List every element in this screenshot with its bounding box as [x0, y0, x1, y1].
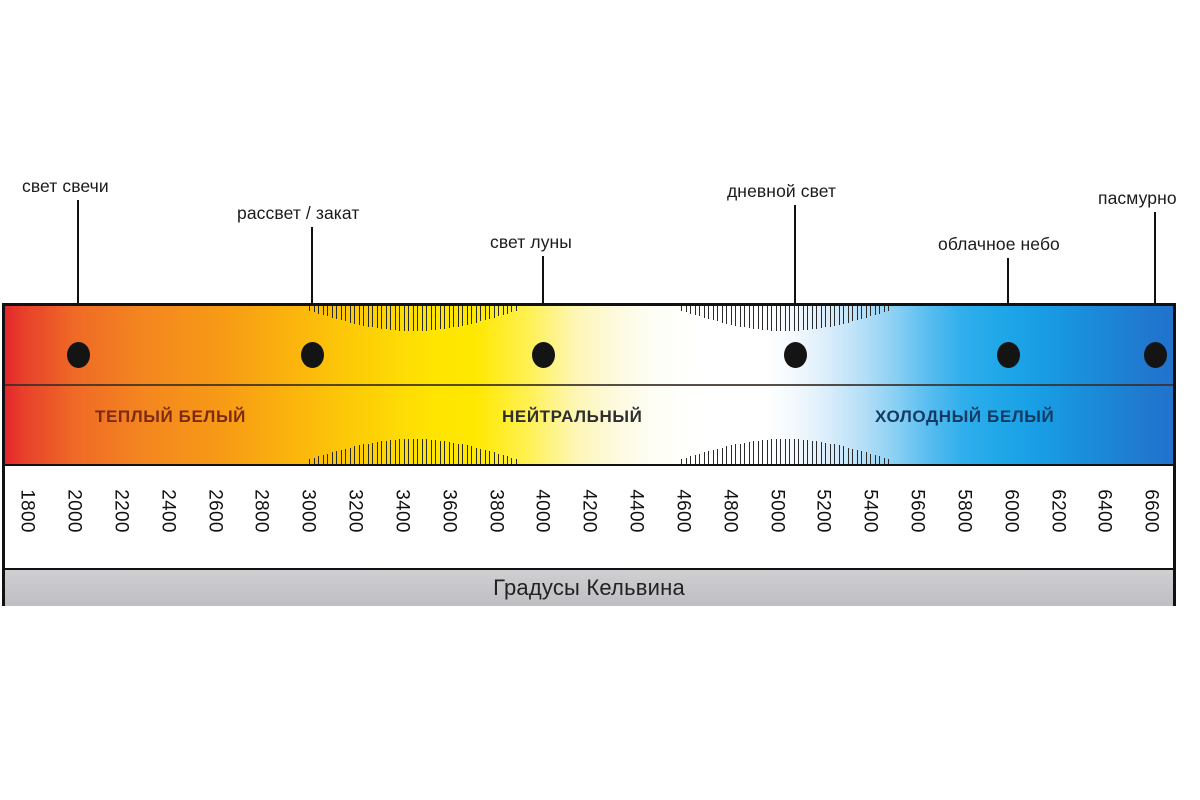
ruler-tick [704, 306, 705, 318]
ruler-tick [798, 439, 799, 464]
ruler-tick [449, 442, 450, 464]
ruler-tick [372, 306, 373, 327]
ruler-tick [753, 441, 754, 464]
ruler-tick [798, 306, 799, 331]
ruler-tick [507, 306, 508, 314]
ruler-tick [762, 306, 763, 330]
ruler-tick [861, 306, 862, 319]
callout-label: облачное небо [938, 236, 1060, 254]
ruler-tick [462, 306, 463, 326]
ruler-tick [498, 454, 499, 464]
kelvin-tick-value: 4400 [625, 489, 647, 532]
ruler-tick [699, 454, 700, 464]
ruler-tick [839, 306, 840, 325]
ruler-tick [489, 306, 490, 319]
color-temperature-chart: ТЕПЛЫЙ БЕЛЫЙ НЕЙТРАЛЬНЫЙ ХОЛОДНЫЙ БЕЛЫЙ … [2, 303, 1176, 606]
ruler-tick [879, 456, 880, 464]
kelvin-tick-value: 4600 [672, 489, 694, 532]
ruler-tick [503, 455, 504, 464]
ruler-tick [467, 306, 468, 325]
kelvin-tick-value: 4800 [719, 489, 741, 532]
callout-layer: свет свечирассвет / закатсвет луныдневно… [0, 0, 1200, 305]
ruler-tick [408, 439, 409, 464]
kelvin-tick-value: 2400 [157, 489, 179, 532]
ruler-tick [753, 306, 754, 329]
kelvin-scale: 1800200022002400260028003000320034003600… [5, 464, 1173, 568]
ruler-tick [359, 445, 360, 464]
kelvin-tick-label: 5200 [812, 472, 834, 564]
ruler-tick [386, 441, 387, 464]
ruler-tick [507, 456, 508, 464]
ruler-tick [807, 440, 808, 464]
ruler-tick [731, 445, 732, 464]
ruler-tick [807, 306, 808, 330]
marker-dot [1144, 342, 1167, 368]
band-label-cool-white: ХОЛОДНЫЙ БЕЛЫЙ [875, 408, 1054, 425]
kelvin-tick-label: 2200 [110, 472, 132, 564]
ruler-tick [789, 439, 790, 464]
kelvin-tick-label: 2600 [203, 472, 225, 564]
spectrum-divider [5, 384, 1173, 386]
ruler-tick [485, 450, 486, 464]
ruler-tick [816, 306, 817, 329]
ruler-tick [771, 439, 772, 464]
ruler-tick [866, 452, 867, 464]
ruler-tick [762, 440, 763, 464]
ruler-tick [404, 439, 405, 464]
kelvin-tick-label: 2400 [157, 472, 179, 564]
ruler-tick [458, 306, 459, 327]
ruler-tick [332, 306, 333, 318]
kelvin-tick-value: 3600 [438, 489, 460, 532]
ruler-tick [377, 306, 378, 328]
ruler-tick [395, 306, 396, 330]
ruler-tick [431, 306, 432, 330]
band-label-neutral: НЕЙТРАЛЬНЫЙ [502, 408, 642, 425]
ruler-tick [435, 306, 436, 330]
ruler-tick [848, 448, 849, 465]
ruler-tick [458, 444, 459, 465]
kelvin-tick-label: 6000 [1000, 472, 1022, 564]
ruler-tick [363, 444, 364, 464]
kelvin-tick-value: 5800 [953, 489, 975, 532]
ruler-tick [462, 444, 463, 464]
ruler-tick [830, 444, 831, 465]
ruler-tick [789, 306, 790, 331]
kelvin-tick-value: 2200 [110, 489, 132, 532]
ruler-tick [498, 306, 499, 316]
ruler-tick [399, 439, 400, 464]
ruler-tick [875, 306, 876, 315]
kelvin-tick-label: 2000 [63, 472, 85, 564]
kelvin-tick-value: 5200 [812, 489, 834, 532]
ruler-tick [740, 306, 741, 327]
ruler-tick [834, 306, 835, 326]
ruler-tick [480, 449, 481, 464]
kelvin-tick-value: 6200 [1046, 489, 1068, 532]
ruler-tick [735, 444, 736, 464]
kelvin-tick-value: 3200 [344, 489, 366, 532]
ruler-tick [825, 443, 826, 464]
ruler-tick [726, 306, 727, 324]
callout-label: рассвет / закат [237, 205, 359, 223]
ruler-tick [489, 451, 490, 464]
ruler-tick [875, 455, 876, 464]
ruler-tick [336, 451, 337, 464]
ruler-tick [870, 306, 871, 316]
kelvin-tick-value: 4200 [578, 489, 600, 532]
ruler-tick [848, 306, 849, 323]
ruler-tick [476, 306, 477, 323]
ruler-tick [780, 306, 781, 331]
ruler-tick [749, 442, 750, 464]
ruler-tick [825, 306, 826, 327]
kelvin-tick-value: 5600 [906, 489, 928, 532]
ruler-tick [870, 454, 871, 464]
ruler-tick [690, 456, 691, 464]
ruler-tick [480, 306, 481, 321]
ruler-tick [386, 306, 387, 329]
marker-dot [532, 342, 555, 368]
ruler-tick [453, 443, 454, 464]
ruler-tick [803, 306, 804, 330]
ruler-tick [368, 444, 369, 465]
ruler-tick [314, 306, 315, 312]
ruler-tick [494, 452, 495, 464]
ruler-tick [857, 450, 858, 464]
kelvin-tick-value: 2600 [203, 489, 225, 532]
kelvin-tick-label: 3200 [344, 472, 366, 564]
marker-dot [784, 342, 807, 368]
ruler-tick [771, 306, 772, 331]
kelvin-tick-label: 5600 [906, 472, 928, 564]
ruler-tick [345, 449, 346, 464]
ruler-tick [803, 440, 804, 464]
ruler-tick [785, 306, 786, 331]
ruler-tick [476, 448, 477, 465]
ruler-tick [503, 306, 504, 315]
ruler-tick [816, 441, 817, 464]
ruler-tick [395, 440, 396, 464]
ruler-tick [372, 443, 373, 464]
ruler-tick [426, 439, 427, 464]
ruler-tick [821, 442, 822, 464]
ruler-tick [426, 306, 427, 331]
ruler-tick [708, 451, 709, 464]
ruler-tick [852, 449, 853, 464]
kelvin-tick-label: 6200 [1046, 472, 1068, 564]
kelvin-caption-text: Градусы Кельвина [493, 575, 685, 601]
ruler-tick [318, 456, 319, 464]
ruler-tick [363, 306, 364, 326]
kelvin-tick-value: 2000 [63, 489, 85, 532]
ruler-tick [413, 306, 414, 331]
ruler-tick [511, 306, 512, 312]
ruler-tick [812, 306, 813, 329]
spectrum-gradient-band: ТЕПЛЫЙ БЕЛЫЙ НЕЙТРАЛЬНЫЙ ХОЛОДНЫЙ БЕЛЫЙ [5, 306, 1173, 464]
ruler-tick [776, 439, 777, 464]
ruler-tick [744, 443, 745, 464]
ruler-tick [681, 306, 682, 311]
ruler-tick [839, 445, 840, 464]
kelvin-tick-label: 3400 [391, 472, 413, 564]
ruler-tick [812, 441, 813, 464]
ruler-tick [713, 450, 714, 464]
ruler-tick [399, 306, 400, 331]
ruler-tick [834, 444, 835, 464]
ruler-tick [413, 439, 414, 464]
ruler-tick [704, 452, 705, 464]
ruler-tick [327, 306, 328, 316]
ruler-tick [323, 306, 324, 315]
ruler-tick [417, 439, 418, 464]
ruler-tick [327, 454, 328, 464]
ruler-tick [368, 306, 369, 327]
kelvin-tick-label: 4800 [719, 472, 741, 564]
kelvin-tick-label: 3000 [297, 472, 319, 564]
kelvin-tick-value: 6600 [1140, 489, 1162, 532]
ruler-tick [852, 306, 853, 321]
kelvin-tick-label: 3600 [438, 472, 460, 564]
kelvin-tick-value: 5400 [859, 489, 881, 532]
ruler-tick [731, 306, 732, 325]
ruler-tick [726, 446, 727, 464]
kelvin-tick-value: 2800 [250, 489, 272, 532]
kelvin-tick-label: 4600 [672, 472, 694, 564]
ruler-tick [758, 441, 759, 464]
ruler-tick [377, 442, 378, 464]
kelvin-tick-label: 2800 [250, 472, 272, 564]
kelvin-tick-label: 4000 [531, 472, 553, 564]
kelvin-caption-bar: Градусы Кельвина [5, 568, 1173, 606]
ruler-tick [408, 306, 409, 331]
ruler-tick [722, 448, 723, 465]
ruler-tick [690, 306, 691, 314]
band-label-warm-white: ТЕПЛЫЙ БЕЛЫЙ [95, 408, 246, 425]
ruler-tick [422, 306, 423, 331]
ruler-tick [717, 306, 718, 321]
ruler-tick [390, 440, 391, 464]
ruler-tick [354, 306, 355, 324]
ruler-tick [794, 306, 795, 331]
kelvin-tick-value: 3800 [484, 489, 506, 532]
kelvin-tick-label: 6400 [1093, 472, 1115, 564]
ruler-tick [404, 306, 405, 331]
ruler-tick [776, 306, 777, 331]
ruler-tick [708, 306, 709, 319]
kelvin-tick-value: 6400 [1093, 489, 1115, 532]
ruler-tick [758, 306, 759, 329]
ruler-tick [449, 306, 450, 328]
callout-label: свет луны [490, 234, 572, 252]
kelvin-tick-label: 3800 [484, 472, 506, 564]
ruler-tick [888, 306, 889, 311]
ruler-tick [780, 439, 781, 464]
ruler-tick [740, 444, 741, 465]
ruler-tick [318, 306, 319, 314]
ruler-tick [516, 306, 517, 311]
ruler-tick [695, 455, 696, 464]
ruler-tick [830, 306, 831, 327]
ruler-tick [744, 306, 745, 327]
ruler-tick [332, 452, 333, 464]
ruler-tick [309, 306, 310, 311]
marker-dot [997, 342, 1020, 368]
kelvin-tick-label: 6600 [1140, 472, 1162, 564]
ruler-tick [821, 306, 822, 328]
ruler-tick [381, 306, 382, 329]
kelvin-tick-value: 3400 [391, 489, 413, 532]
ruler-tick [843, 446, 844, 464]
ruler-tick [695, 306, 696, 315]
ruler-tick [717, 449, 718, 464]
kelvin-tick-value: 1800 [16, 489, 38, 532]
ruler-tick [350, 448, 351, 465]
ruler-tick [686, 306, 687, 312]
callout-label: дневной свет [727, 183, 836, 201]
kelvin-tick-label: 4200 [578, 472, 600, 564]
kelvin-tick-value: 4000 [531, 489, 553, 532]
ruler-tick [453, 306, 454, 327]
ruler-tick [467, 445, 468, 464]
kelvin-tick-value: 6000 [1000, 489, 1022, 532]
kelvin-tick-label: 5000 [765, 472, 787, 564]
ruler-tick [422, 439, 423, 464]
kelvin-tick-label: 4400 [625, 472, 647, 564]
ruler-tick [699, 306, 700, 316]
ruler-tick [767, 440, 768, 464]
ruler-tick [843, 306, 844, 324]
ruler-tick [390, 306, 391, 330]
ruler-tick [323, 455, 324, 464]
ruler-tick [354, 446, 355, 464]
ruler-tick [444, 441, 445, 464]
marker-dot [301, 342, 324, 368]
ruler-tick [861, 451, 862, 464]
ruler-tick [471, 306, 472, 324]
marker-dot [67, 342, 90, 368]
ruler-tick [417, 306, 418, 331]
ruler-tick [336, 306, 337, 319]
ruler-tick [767, 306, 768, 330]
ruler-tick [857, 306, 858, 320]
ruler-tick [494, 306, 495, 318]
ruler-tick [794, 439, 795, 464]
ruler-tick [341, 450, 342, 464]
ruler-tick [345, 306, 346, 321]
ruler-tick [749, 306, 750, 328]
kelvin-tick-label: 5400 [859, 472, 881, 564]
ruler-tick [866, 306, 867, 318]
callout-label: пасмурно [1098, 190, 1177, 208]
ruler-tick [440, 441, 441, 464]
ruler-tick [785, 439, 786, 464]
ruler-tick [713, 306, 714, 320]
ruler-tick [471, 446, 472, 464]
kelvin-tick-label: 5800 [953, 472, 975, 564]
kelvin-tick-value: 3000 [297, 489, 319, 532]
ruler-tick [485, 306, 486, 320]
ruler-tick [444, 306, 445, 329]
ruler-tick [884, 306, 885, 312]
ruler-tick [350, 306, 351, 323]
ruler-tick [359, 306, 360, 325]
kelvin-tick-value: 5000 [765, 489, 787, 532]
ruler-tick [722, 306, 723, 323]
ruler-tick [431, 440, 432, 464]
callout-label: свет свечи [22, 178, 109, 196]
ruler-tick [735, 306, 736, 326]
ruler-tick [879, 306, 880, 314]
ruler-tick [381, 441, 382, 464]
ruler-tick [341, 306, 342, 320]
kelvin-tick-label: 1800 [16, 472, 38, 564]
ruler-tick [435, 440, 436, 464]
ruler-tick [440, 306, 441, 329]
